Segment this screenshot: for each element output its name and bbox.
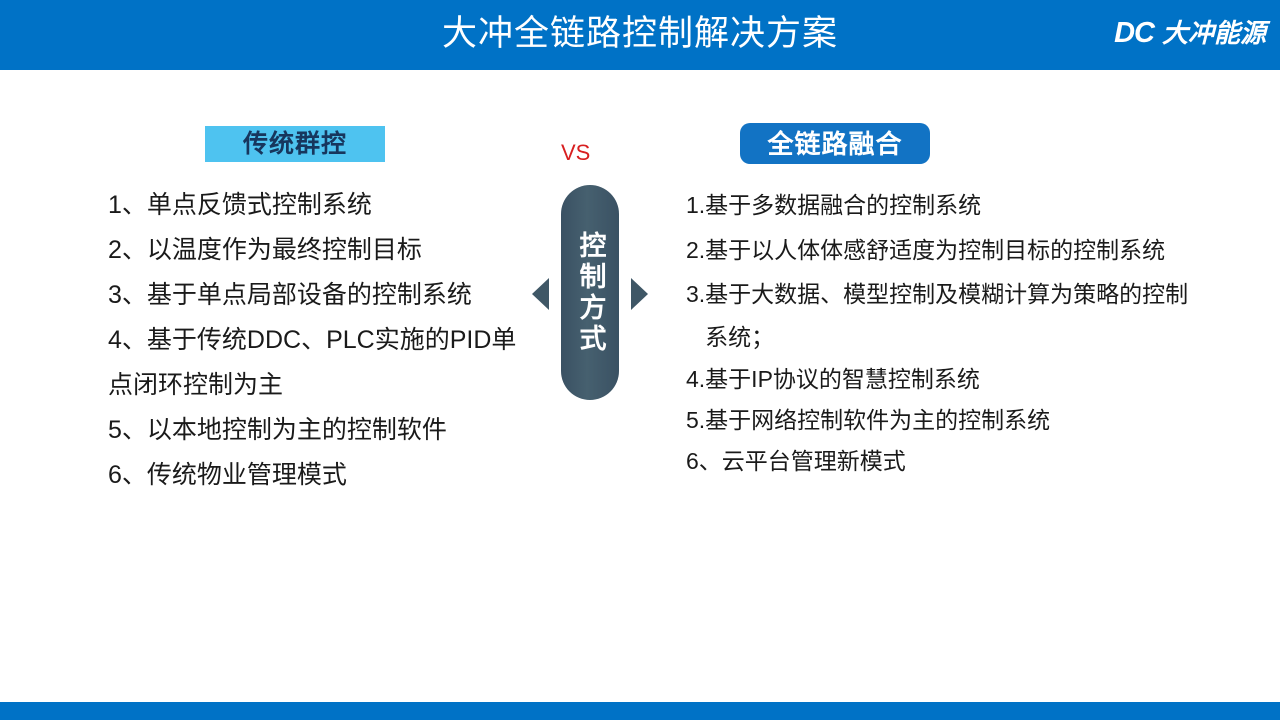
brand-name-text: 大冲能源: [1162, 16, 1266, 50]
arrow-right-icon: [631, 278, 648, 310]
slide-canvas: 大冲全链路控制解决方案 DC 大冲能源 传统群控 VS 全链路融合 1、单点反馈…: [0, 0, 1280, 720]
list-item: 2.基于以人体体感舒适度为控制目标的控制系统: [686, 228, 1280, 273]
brand-mark-text: DC: [1114, 16, 1154, 50]
list-item: 4、基于传统DDC、PLC实施的PID单: [108, 318, 540, 363]
brand-logo: DC 大冲能源: [1114, 16, 1266, 50]
fusion-column-badge: 全链路融合: [740, 123, 930, 164]
list-item: 1.基于多数据融合的控制系统: [686, 183, 1280, 228]
list-item: 6、云平台管理新模式: [686, 441, 1280, 482]
list-item: 5、以本地控制为主的控制软件: [108, 408, 540, 453]
control-method-axis: 控制方式: [532, 185, 648, 400]
list-item: 系统；: [686, 316, 1280, 359]
fusion-control-list: 1.基于多数据融合的控制系统 2.基于以人体体感舒适度为控制目标的控制系统 3.…: [686, 183, 1280, 482]
fusion-column-badge-label: 全链路融合: [767, 128, 902, 160]
list-item: 3.基于大数据、模型控制及模糊计算为策略的控制: [686, 273, 1280, 316]
list-item: 6、传统物业管理模式: [108, 453, 540, 498]
list-item: 5.基于网络控制软件为主的控制系统: [686, 400, 1280, 441]
list-item: 1、单点反馈式控制系统: [108, 183, 540, 228]
list-item: 点闭环控制为主: [108, 363, 540, 408]
page-title: 大冲全链路控制解决方案: [0, 10, 1280, 58]
arrow-left-icon: [532, 278, 549, 310]
footer-bar: [0, 702, 1280, 720]
legacy-column-badge: 传统群控: [205, 126, 385, 162]
list-item: 3、基于单点局部设备的控制系统: [108, 273, 540, 318]
legacy-control-list: 1、单点反馈式控制系统 2、以温度作为最终控制目标 3、基于单点局部设备的控制系…: [108, 183, 540, 498]
control-method-label: 控制方式: [573, 231, 608, 355]
vs-label: VS: [561, 140, 590, 166]
control-method-pill: 控制方式: [561, 185, 619, 400]
legacy-column-badge-label: 传统群控: [243, 129, 347, 159]
list-item: 4.基于IP协议的智慧控制系统: [686, 359, 1280, 400]
list-item: 2、以温度作为最终控制目标: [108, 228, 540, 273]
